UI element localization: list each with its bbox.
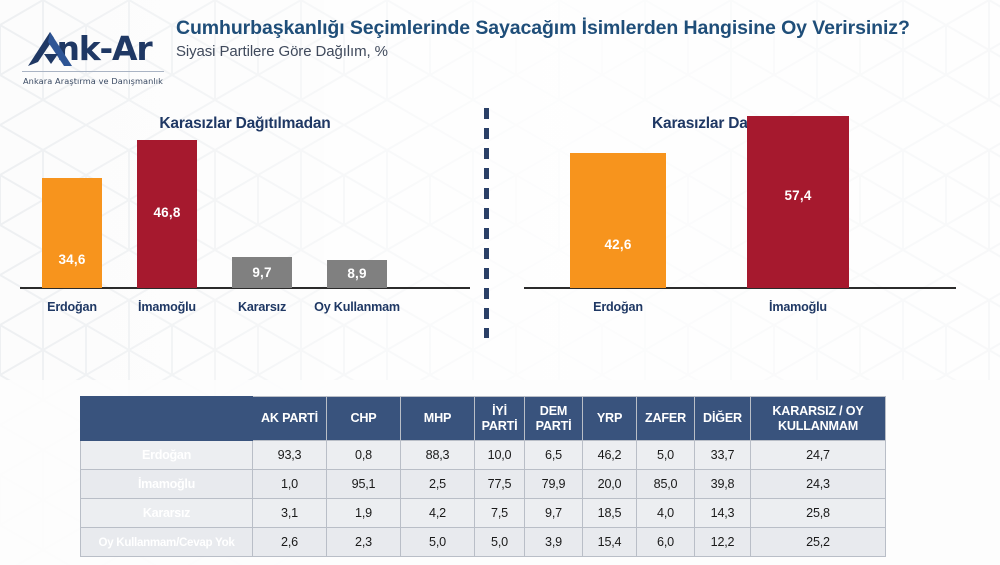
logo-divider bbox=[22, 71, 164, 72]
cell: 2,5 bbox=[401, 470, 475, 499]
cell: 77,5 bbox=[475, 470, 525, 499]
table-body: Erdoğan 93,3 0,8 88,3 10,0 6,5 46,2 5,0 … bbox=[81, 441, 886, 557]
cell: 2,6 bbox=[253, 528, 327, 557]
chart-karasizlar-dagitilmadan: Karasızlar Dağıtılmadan 34,6 Erdoğan 46,… bbox=[20, 105, 470, 345]
col-header-text: ZAFER bbox=[645, 411, 686, 425]
cell: 3,1 bbox=[253, 499, 327, 528]
col-header-text: YRP bbox=[597, 411, 622, 425]
section-divider bbox=[484, 108, 489, 338]
cell: 25,2 bbox=[751, 528, 886, 557]
col-header-ak-parti: AK PARTİ bbox=[253, 397, 327, 441]
col-header-mhp: MHP bbox=[401, 397, 475, 441]
cell: 3,9 bbox=[525, 528, 583, 557]
cell: 6,5 bbox=[525, 441, 583, 470]
bar-label-erdogan-right: Erdoğan bbox=[570, 300, 666, 314]
col-header-text: İYİ bbox=[492, 404, 507, 418]
col-header-zafer: ZAFER bbox=[637, 397, 695, 441]
col-header-text-2: PARTİ bbox=[536, 419, 572, 433]
bar-erdogan-right[interactable]: 42,6 bbox=[570, 153, 666, 288]
bar-value-imamoglu-right: 57,4 bbox=[747, 188, 849, 203]
col-header-chp: CHP bbox=[327, 397, 401, 441]
table-row: Erdoğan 93,3 0,8 88,3 10,0 6,5 46,2 5,0 … bbox=[81, 441, 886, 470]
cell: 20,0 bbox=[583, 470, 637, 499]
cell: 24,3 bbox=[751, 470, 886, 499]
plot-area-right: 42,6 Erdoğan 57,4 İmamoğlu bbox=[500, 143, 980, 318]
cell: 2,3 bbox=[327, 528, 401, 557]
table-row: Oy Kullanmam/Cevap Yok 2,6 2,3 5,0 5,0 3… bbox=[81, 528, 886, 557]
page-subtitle: Siyasi Partilere Göre Dağılım, % bbox=[176, 43, 976, 60]
bar-value-erdogan-right: 42,6 bbox=[570, 237, 666, 252]
table-header-row: AK PARTİ CHP MHP İYİ PARTİ DEM PARTİ bbox=[81, 397, 886, 441]
bar-oy-kullanmam-left[interactable]: 8,9 bbox=[327, 260, 387, 288]
cell: 15,4 bbox=[583, 528, 637, 557]
col-header-iyi-parti: İYİ PARTİ bbox=[475, 397, 525, 441]
title-block: Cumhurbaşkanlığı Seçimlerinde Sayacağım … bbox=[176, 17, 976, 60]
cell: 5,0 bbox=[401, 528, 475, 557]
table-corner-cell bbox=[81, 397, 253, 441]
plot-area-left: 34,6 Erdoğan 46,8 İmamoğlu 9,7 Kararsız … bbox=[20, 143, 470, 318]
cell: 4,2 bbox=[401, 499, 475, 528]
cell: 7,5 bbox=[475, 499, 525, 528]
cell: 39,8 bbox=[695, 470, 751, 499]
row-header-kararsiz: Kararsız bbox=[81, 499, 253, 528]
table-row: Kararsız 3,1 1,9 4,2 7,5 9,7 18,5 4,0 14… bbox=[81, 499, 886, 528]
data-table: AK PARTİ CHP MHP İYİ PARTİ DEM PARTİ bbox=[80, 396, 886, 557]
bar-label-oy-kullanmam-left: Oy Kullanmam bbox=[312, 300, 402, 314]
cell: 1,0 bbox=[253, 470, 327, 499]
cell: 79,9 bbox=[525, 470, 583, 499]
col-header-text: CHP bbox=[351, 411, 377, 425]
bar-value-erdogan-left: 34,6 bbox=[42, 252, 102, 267]
bar-value-kararsiz-left: 9,7 bbox=[232, 265, 292, 280]
cell: 9,7 bbox=[525, 499, 583, 528]
col-header-dem-parti: DEM PARTİ bbox=[525, 397, 583, 441]
cell: 5,0 bbox=[637, 441, 695, 470]
col-header-kararsiz-oy-kullanmam: KARARSIZ / OY KULLANMAM bbox=[751, 397, 886, 441]
col-header-text: DEM bbox=[540, 404, 567, 418]
cell: 5,0 bbox=[475, 528, 525, 557]
row-header-oy-kullanmam: Oy Kullanmam/Cevap Yok bbox=[81, 528, 253, 557]
col-header-yrp: YRP bbox=[583, 397, 637, 441]
row-header-imamoglu: İmamoğlu bbox=[81, 470, 253, 499]
page-title: Cumhurbaşkanlığı Seçimlerinde Sayacağım … bbox=[176, 17, 976, 41]
cell: 6,0 bbox=[637, 528, 695, 557]
cell: 14,3 bbox=[695, 499, 751, 528]
cell: 0,8 bbox=[327, 441, 401, 470]
chart-title-right: Karasızlar Dağıtıldığında bbox=[500, 115, 980, 133]
bar-label-imamoglu-right: İmamoğlu bbox=[747, 300, 849, 314]
bar-label-imamoglu-left: İmamoğlu bbox=[137, 300, 197, 314]
chart-title-left: Karasızlar Dağıtılmadan bbox=[20, 115, 470, 133]
cell: 33,7 bbox=[695, 441, 751, 470]
col-header-text: KARARSIZ / OY bbox=[772, 404, 863, 418]
cell: 18,5 bbox=[583, 499, 637, 528]
cell: 4,0 bbox=[637, 499, 695, 528]
party-breakdown-table: AK PARTİ CHP MHP İYİ PARTİ DEM PARTİ bbox=[80, 396, 885, 557]
slide-root: nk-Ar Ankara Araştırma ve Danışmanlık Cu… bbox=[0, 0, 1000, 565]
cell: 24,7 bbox=[751, 441, 886, 470]
cell: 95,1 bbox=[327, 470, 401, 499]
cell: 10,0 bbox=[475, 441, 525, 470]
col-header-text: DİĞER bbox=[703, 411, 742, 425]
cell: 93,3 bbox=[253, 441, 327, 470]
ankar-logo: nk-Ar Ankara Araştırma ve Danışmanlık bbox=[18, 28, 168, 86]
col-header-text: MHP bbox=[424, 411, 451, 425]
ankar-a-mark-icon bbox=[24, 30, 78, 70]
bar-imamoglu-right[interactable]: 57,4 bbox=[747, 116, 849, 288]
cell: 12,2 bbox=[695, 528, 751, 557]
col-header-text-2: KULLANMAM bbox=[778, 419, 858, 433]
bar-kararsiz-left[interactable]: 9,7 bbox=[232, 257, 292, 288]
bar-value-imamoglu-left: 46,8 bbox=[137, 205, 197, 220]
cell: 88,3 bbox=[401, 441, 475, 470]
bar-label-erdogan-left: Erdoğan bbox=[42, 300, 102, 314]
logo-tagline: Ankara Araştırma ve Danışmanlık bbox=[18, 76, 168, 86]
slide-header: nk-Ar Ankara Araştırma ve Danışmanlık Cu… bbox=[0, 0, 1000, 100]
bar-label-kararsiz-left: Kararsız bbox=[232, 300, 292, 314]
col-header-text-2: PARTİ bbox=[482, 419, 518, 433]
table-row: İmamoğlu 1,0 95,1 2,5 77,5 79,9 20,0 85,… bbox=[81, 470, 886, 499]
chart-karasizlar-dagitildiginda: Karasızlar Dağıtıldığında 42,6 Erdoğan 5… bbox=[500, 105, 980, 345]
logo-mark: nk-Ar bbox=[18, 28, 168, 68]
col-header-text: AK PARTİ bbox=[261, 411, 318, 425]
col-header-diger: DİĞER bbox=[695, 397, 751, 441]
bar-imamoglu-left[interactable]: 46,8 bbox=[137, 140, 197, 288]
bar-erdogan-left[interactable]: 34,6 bbox=[42, 178, 102, 288]
cell: 25,8 bbox=[751, 499, 886, 528]
cell: 1,9 bbox=[327, 499, 401, 528]
bar-value-oy-kullanmam-left: 8,9 bbox=[327, 266, 387, 281]
cell: 85,0 bbox=[637, 470, 695, 499]
cell: 46,2 bbox=[583, 441, 637, 470]
row-header-erdogan: Erdoğan bbox=[81, 441, 253, 470]
